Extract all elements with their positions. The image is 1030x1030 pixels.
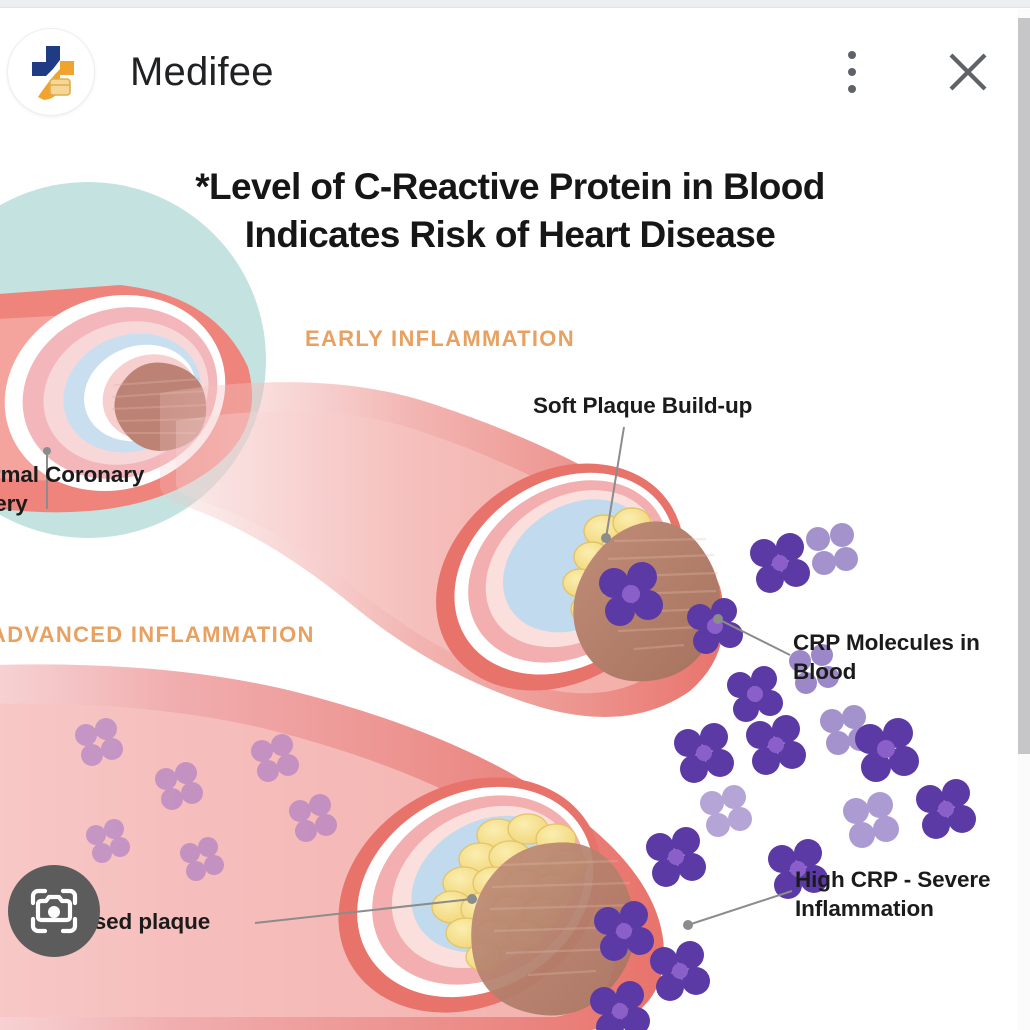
advanced-inflammation-artery [0,664,976,1030]
vertical-scrollbar-thumb[interactable] [1018,18,1030,754]
medifee-logo-icon[interactable] [8,29,94,115]
early-inflammation-artery [160,382,858,737]
figure-title: *Level of C-Reactive Protein in Blood In… [0,163,1000,259]
article-content[interactable]: *Level of C-Reactive Protein in Blood In… [0,135,1017,1030]
figure-title-line-2: Indicates Risk of Heart Disease [20,211,1000,259]
kebab-dot [848,68,856,76]
google-lens-camera-icon[interactable] [8,865,100,957]
kebab-dots [848,47,856,98]
screenshot-root: Medifee [0,0,1030,1030]
leader-line-high-crp [683,891,792,930]
label-high-crp-severe-inflammation: High CRP - Severe Inflammation [795,865,1017,924]
app-header: Medifee [0,9,1030,135]
vertical-scrollbar-track[interactable] [1018,9,1030,1030]
close-icon[interactable] [936,40,1000,104]
kebab-dot [848,51,856,59]
label-crp-molecules-in-blood: CRP Molecules in Blood [793,628,1017,687]
kebab-menu-icon[interactable] [820,40,884,104]
label-soft-plaque-buildup: Soft Plaque Build-up [533,391,752,420]
stage-label-early: EARLY INFLAMMATION [305,326,575,352]
label-normal-coronary-artery: Normal Coronary Artery [0,460,212,519]
kebab-dot [848,85,856,93]
top-chrome-strip [0,0,1030,8]
figure-title-line-1: *Level of C-Reactive Protein in Blood [20,163,1000,211]
stage-label-advanced: ADVANCED INFLAMMATION [0,622,315,648]
app-title: Medifee [130,52,274,92]
